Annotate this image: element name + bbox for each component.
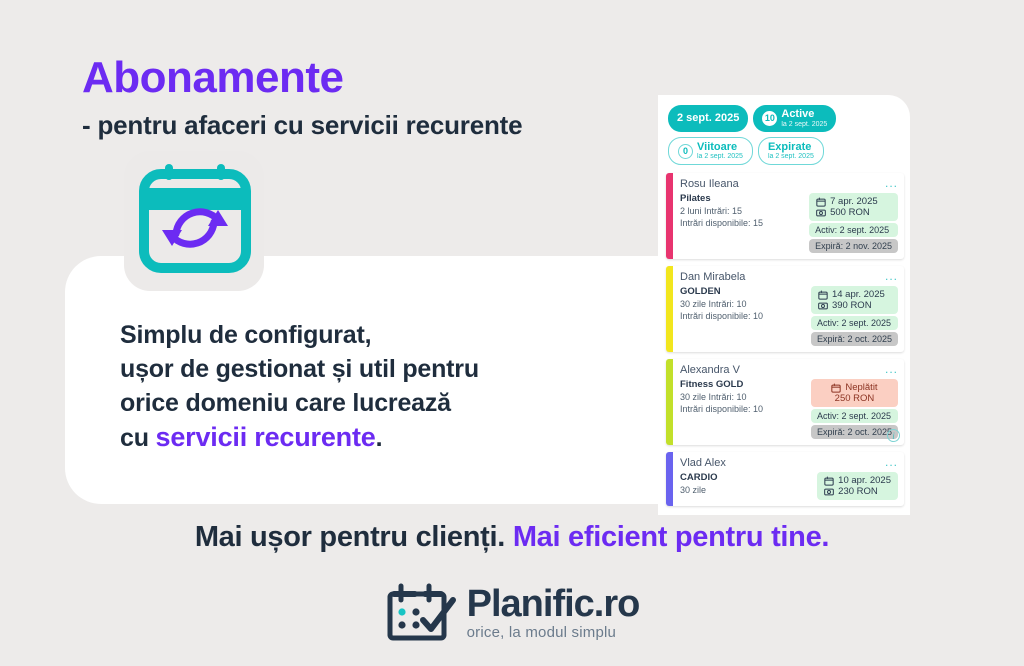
calendar-refresh-icon bbox=[134, 158, 256, 280]
card-body: GOLDEN30 zile Intrări: 10Intrări disponi… bbox=[680, 286, 898, 346]
subscription-card-list: Rosu Ileana...Pilates2 luni Intrări: 15I… bbox=[658, 171, 910, 506]
filter-chip-expirate[interactable]: Expiratela 2 sept. 2025 bbox=[758, 137, 824, 166]
subscription-card[interactable]: Alexandra V...Fitness GOLD30 zile Intrăr… bbox=[666, 359, 904, 445]
plan-name: Fitness GOLD bbox=[680, 379, 763, 390]
client-name: Rosu Ileana bbox=[680, 178, 739, 190]
calendar-small-icon bbox=[816, 197, 826, 207]
subscription-card[interactable]: Rosu Ileana...Pilates2 luni Intrări: 15I… bbox=[666, 173, 904, 259]
chip-sublabel: la 2 sept. 2025 bbox=[697, 153, 743, 161]
payment-date-row: 10 apr. 2025 bbox=[824, 475, 891, 486]
card-status-column: 14 apr. 2025390 RONActiv: 2 sept. 2025Ex… bbox=[811, 286, 898, 346]
card-menu-icon[interactable]: ... bbox=[885, 178, 898, 188]
chip-text: 2 sept. 2025 bbox=[677, 112, 739, 125]
client-name: Vlad Alex bbox=[680, 457, 726, 469]
money-icon bbox=[818, 301, 828, 311]
price-amount: 250 RON bbox=[835, 393, 875, 404]
price-row: 230 RON bbox=[824, 486, 891, 497]
chip-sublabel: la 2 sept. 2025 bbox=[781, 121, 827, 129]
plan-duration: 2 luni Intrări: 15 bbox=[680, 206, 763, 216]
logo-text: Planific.ro orice, la modul simplu bbox=[467, 585, 640, 640]
plan-duration: 30 zile bbox=[680, 485, 717, 495]
active-tag: Activ: 2 sept. 2025 bbox=[811, 409, 898, 423]
payment-date: 7 apr. 2025 bbox=[830, 196, 878, 207]
chip-text: Activela 2 sept. 2025 bbox=[781, 108, 827, 129]
tagline: Mai ușor pentru clienți. Mai eficient pe… bbox=[0, 521, 1024, 554]
chip-sublabel: la 2 sept. 2025 bbox=[768, 153, 814, 161]
card-plan-info: Fitness GOLD30 zile Intrări: 10Intrări d… bbox=[680, 379, 763, 439]
price-amount: 500 RON bbox=[830, 207, 870, 218]
card-accent-bar bbox=[666, 266, 673, 352]
card-plan-info: GOLDEN30 zile Intrări: 10Intrări disponi… bbox=[680, 286, 763, 346]
body-line-4-accent: servicii recurente bbox=[156, 422, 376, 452]
calendar-small-icon bbox=[831, 383, 841, 393]
card-menu-icon[interactable]: ... bbox=[885, 457, 898, 467]
card-plan-info: CARDIO30 zile bbox=[680, 472, 717, 500]
card-content: Rosu Ileana...Pilates2 luni Intrări: 15I… bbox=[673, 173, 904, 259]
money-icon bbox=[816, 208, 826, 218]
card-content: Vlad Alex...CARDIO30 zile10 apr. 2025230… bbox=[673, 452, 904, 506]
filter-chip-active[interactable]: 10Activela 2 sept. 2025 bbox=[753, 105, 836, 132]
payment-date-row: 14 apr. 2025 bbox=[818, 289, 891, 300]
plan-name: CARDIO bbox=[680, 472, 717, 483]
payment-date: 10 apr. 2025 bbox=[838, 475, 891, 486]
body-line-4-prefix: cu bbox=[120, 424, 149, 452]
plan-available-entries: Intrări disponibile: 10 bbox=[680, 404, 763, 414]
card-header: Vlad Alex... bbox=[680, 457, 898, 469]
active-tag: Activ: 2 sept. 2025 bbox=[809, 223, 898, 237]
logo-subtitle: orice, la modul simplu bbox=[467, 625, 640, 640]
chip-text: Expiratela 2 sept. 2025 bbox=[768, 141, 814, 162]
card-header: Dan Mirabela... bbox=[680, 271, 898, 283]
expire-tag: Expiră: 2 nov. 2025 bbox=[809, 239, 898, 253]
client-name: Dan Mirabela bbox=[680, 271, 745, 283]
plan-available-entries: Intrări disponibile: 10 bbox=[680, 311, 763, 321]
card-menu-icon[interactable]: ... bbox=[885, 271, 898, 281]
price-row: 250 RON bbox=[818, 393, 891, 404]
plan-duration: 30 zile Intrări: 10 bbox=[680, 299, 763, 309]
card-body: Pilates2 luni Intrări: 15Intrări disponi… bbox=[680, 193, 898, 253]
tagline-highlight: Mai eficient pentru tine. bbox=[513, 521, 829, 553]
unpaid-label: Neplătit bbox=[845, 382, 877, 393]
body-line-1: Simplu de configurat, bbox=[120, 318, 479, 352]
price-row: 390 RON bbox=[818, 300, 891, 311]
chip-label: Viitoare bbox=[697, 141, 743, 154]
payment-box: 7 apr. 2025500 RON bbox=[809, 193, 898, 221]
body-line-3: orice domeniu care lucrează bbox=[120, 386, 479, 420]
chip-label: Active bbox=[781, 108, 827, 121]
price-amount: 390 RON bbox=[832, 300, 872, 311]
card-accent-bar bbox=[666, 452, 673, 506]
chip-count: 0 bbox=[678, 144, 693, 159]
card-status-column: 10 apr. 2025230 RON bbox=[817, 472, 898, 500]
plan-name: GOLDEN bbox=[680, 286, 763, 297]
filter-chip-viitoare[interactable]: 0Viitoarela 2 sept. 2025 bbox=[668, 137, 753, 166]
plan-available-entries: Intrări disponibile: 15 bbox=[680, 218, 763, 228]
card-accent-bar bbox=[666, 359, 673, 445]
price-amount: 230 RON bbox=[838, 486, 878, 497]
plan-name: Pilates bbox=[680, 193, 763, 204]
body-copy: Simplu de configurat, ușor de gestionat … bbox=[120, 318, 479, 455]
calendar-check-icon bbox=[385, 582, 457, 642]
payment-box: 14 apr. 2025390 RON bbox=[811, 286, 898, 314]
calendar-small-icon bbox=[824, 476, 834, 486]
card-plan-info: Pilates2 luni Intrări: 15Intrări disponi… bbox=[680, 193, 763, 253]
page-title: Abonamente bbox=[82, 53, 343, 103]
price-row: 500 RON bbox=[816, 207, 891, 218]
card-header: Alexandra V... bbox=[680, 364, 898, 376]
tagline-plain: Mai ușor pentru clienți. bbox=[195, 521, 505, 553]
subscription-card[interactable]: Vlad Alex...CARDIO30 zile10 apr. 2025230… bbox=[666, 452, 904, 506]
card-body: Fitness GOLD30 zile Intrări: 10Intrări d… bbox=[680, 379, 898, 439]
poster-canvas: Abonamente - pentru afaceri cu servicii … bbox=[0, 0, 1024, 666]
chip-label: Expirate bbox=[768, 141, 814, 154]
payment-date: 14 apr. 2025 bbox=[832, 289, 885, 300]
chip-count: 10 bbox=[762, 111, 777, 126]
client-name: Alexandra V bbox=[680, 364, 740, 376]
expire-tag: Expiră: 2 oct. 2025 bbox=[811, 425, 898, 439]
chip-text: Viitoarela 2 sept. 2025 bbox=[697, 141, 743, 162]
payment-date-row: 7 apr. 2025 bbox=[816, 196, 891, 207]
subscription-card[interactable]: Dan Mirabela...GOLDEN30 zile Intrări: 10… bbox=[666, 266, 904, 352]
card-body: CARDIO30 zile10 apr. 2025230 RON bbox=[680, 472, 898, 500]
card-content: Alexandra V...Fitness GOLD30 zile Intrăr… bbox=[673, 359, 904, 445]
body-line-4: cu servicii recurente. bbox=[120, 420, 479, 455]
plan-duration: 30 zile Intrări: 10 bbox=[680, 392, 763, 402]
expire-tag: Expiră: 2 oct. 2025 bbox=[811, 332, 898, 346]
active-tag: Activ: 2 sept. 2025 bbox=[811, 316, 898, 330]
card-status-column: Neplătit250 RONActiv: 2 sept. 2025Expiră… bbox=[811, 379, 898, 439]
payment-box: 10 apr. 2025230 RON bbox=[817, 472, 898, 500]
card-header: Rosu Ileana... bbox=[680, 178, 898, 190]
filter-chip-2-sept-2025[interactable]: 2 sept. 2025 bbox=[668, 105, 748, 132]
card-menu-icon[interactable]: ... bbox=[885, 364, 898, 374]
card-accent-bar bbox=[666, 173, 673, 259]
page-subtitle: - pentru afaceri cu servicii recurente bbox=[82, 110, 522, 141]
calendar-small-icon bbox=[818, 290, 828, 300]
body-line-4-suffix: . bbox=[376, 424, 383, 452]
body-line-2: ușor de gestionat și util pentru bbox=[120, 352, 479, 386]
money-icon bbox=[824, 487, 834, 497]
brand-logo: Planific.ro orice, la modul simplu bbox=[0, 582, 1024, 642]
filter-chip-row: 2 sept. 202510Activela 2 sept. 20250Viit… bbox=[658, 95, 910, 171]
unpaid-box: Neplătit250 RON bbox=[811, 379, 898, 407]
chip-label: 2 sept. 2025 bbox=[677, 112, 739, 125]
logo-name: Planific.ro bbox=[467, 585, 640, 623]
app-preview-panel: 2 sept. 202510Activela 2 sept. 20250Viit… bbox=[658, 95, 910, 515]
card-content: Dan Mirabela...GOLDEN30 zile Intrări: 10… bbox=[673, 266, 904, 352]
payment-date-row: Neplătit bbox=[818, 382, 891, 393]
card-status-column: 7 apr. 2025500 RONActiv: 2 sept. 2025Exp… bbox=[809, 193, 898, 253]
